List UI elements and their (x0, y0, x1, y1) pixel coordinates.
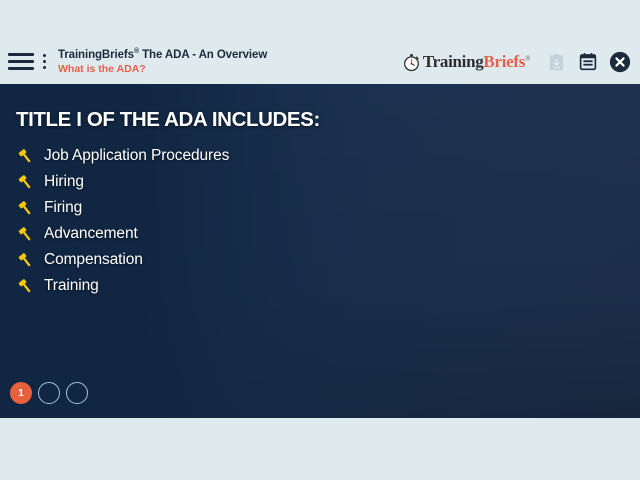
bullet-item: Advancement (16, 221, 436, 247)
bullet-list: Job Application Procedures Hiring Firing… (16, 143, 436, 299)
brand-word-training: Training (423, 52, 484, 71)
bullet-label: Compensation (44, 251, 143, 269)
bullet-item: Job Application Procedures (16, 143, 436, 169)
bullet-label: Training (44, 277, 99, 295)
gavel-icon (16, 173, 35, 192)
bullet-item: Training (16, 273, 436, 299)
kebab-dot (43, 54, 46, 57)
bullet-item: Compensation (16, 247, 436, 273)
hamburger-line (8, 67, 34, 70)
gavel-icon (16, 147, 35, 166)
close-button[interactable] (608, 49, 632, 75)
pagination-dot-2[interactable]: 2 (38, 382, 60, 404)
header-right-group: TrainingBriefs® (402, 49, 632, 75)
bullet-item: Hiring (16, 169, 436, 195)
gavel-icon (16, 199, 35, 218)
brand-registered-mark: ® (525, 54, 530, 62)
slide-heading: TITLE I OF THE ADA INCLUDES: (16, 108, 436, 132)
pagination-dot-1[interactable]: 1 (10, 382, 32, 404)
header-left-group: TrainingBriefs® The ADA - An Overview Wh… (6, 48, 267, 75)
course-title: TrainingBriefs® The ADA - An Overview (58, 48, 267, 62)
download-resources-button (544, 49, 568, 75)
hamburger-line (8, 53, 34, 56)
bullet-item: Firing (16, 195, 436, 221)
trainingbriefs-logo: TrainingBriefs® (402, 52, 530, 72)
kebab-dot (43, 66, 46, 69)
hamburger-menu-icon[interactable] (6, 49, 36, 75)
close-circle-icon (609, 51, 631, 73)
bullet-label: Hiring (44, 173, 84, 191)
course-title-brand: TrainingBriefs (58, 49, 134, 61)
calendar-notes-icon (579, 52, 597, 72)
notes-button[interactable] (576, 49, 600, 75)
kebab-dot (43, 60, 46, 63)
lesson-title[interactable]: What is the ADA? (58, 63, 267, 75)
header-titles: TrainingBriefs® The ADA - An Overview Wh… (58, 48, 267, 75)
bullet-label: Advancement (44, 225, 138, 243)
pagination[interactable]: 1 2 3 (10, 382, 88, 404)
gavel-icon (16, 225, 35, 244)
course-title-suffix: The ADA - An Overview (139, 49, 267, 61)
hamburger-line (8, 60, 34, 63)
more-options-icon[interactable] (36, 49, 52, 75)
slide-copy: TITLE I OF THE ADA INCLUDES: Job Applica… (16, 108, 436, 299)
bullet-label: Firing (44, 199, 82, 217)
pagination-dot-3[interactable]: 3 (66, 382, 88, 404)
slide-stage: TITLE I OF THE ADA INCLUDES: Job Applica… (0, 84, 640, 418)
stopwatch-icon (402, 53, 421, 72)
app-header: TrainingBriefs® The ADA - An Overview Wh… (0, 40, 640, 84)
clipboard-download-icon (548, 53, 565, 72)
gavel-icon (16, 277, 35, 296)
bullet-label: Job Application Procedures (44, 147, 229, 165)
brand-word-briefs: Briefs (483, 52, 525, 71)
gavel-icon (16, 251, 35, 270)
brand-wordmark: TrainingBriefs® (423, 52, 530, 72)
